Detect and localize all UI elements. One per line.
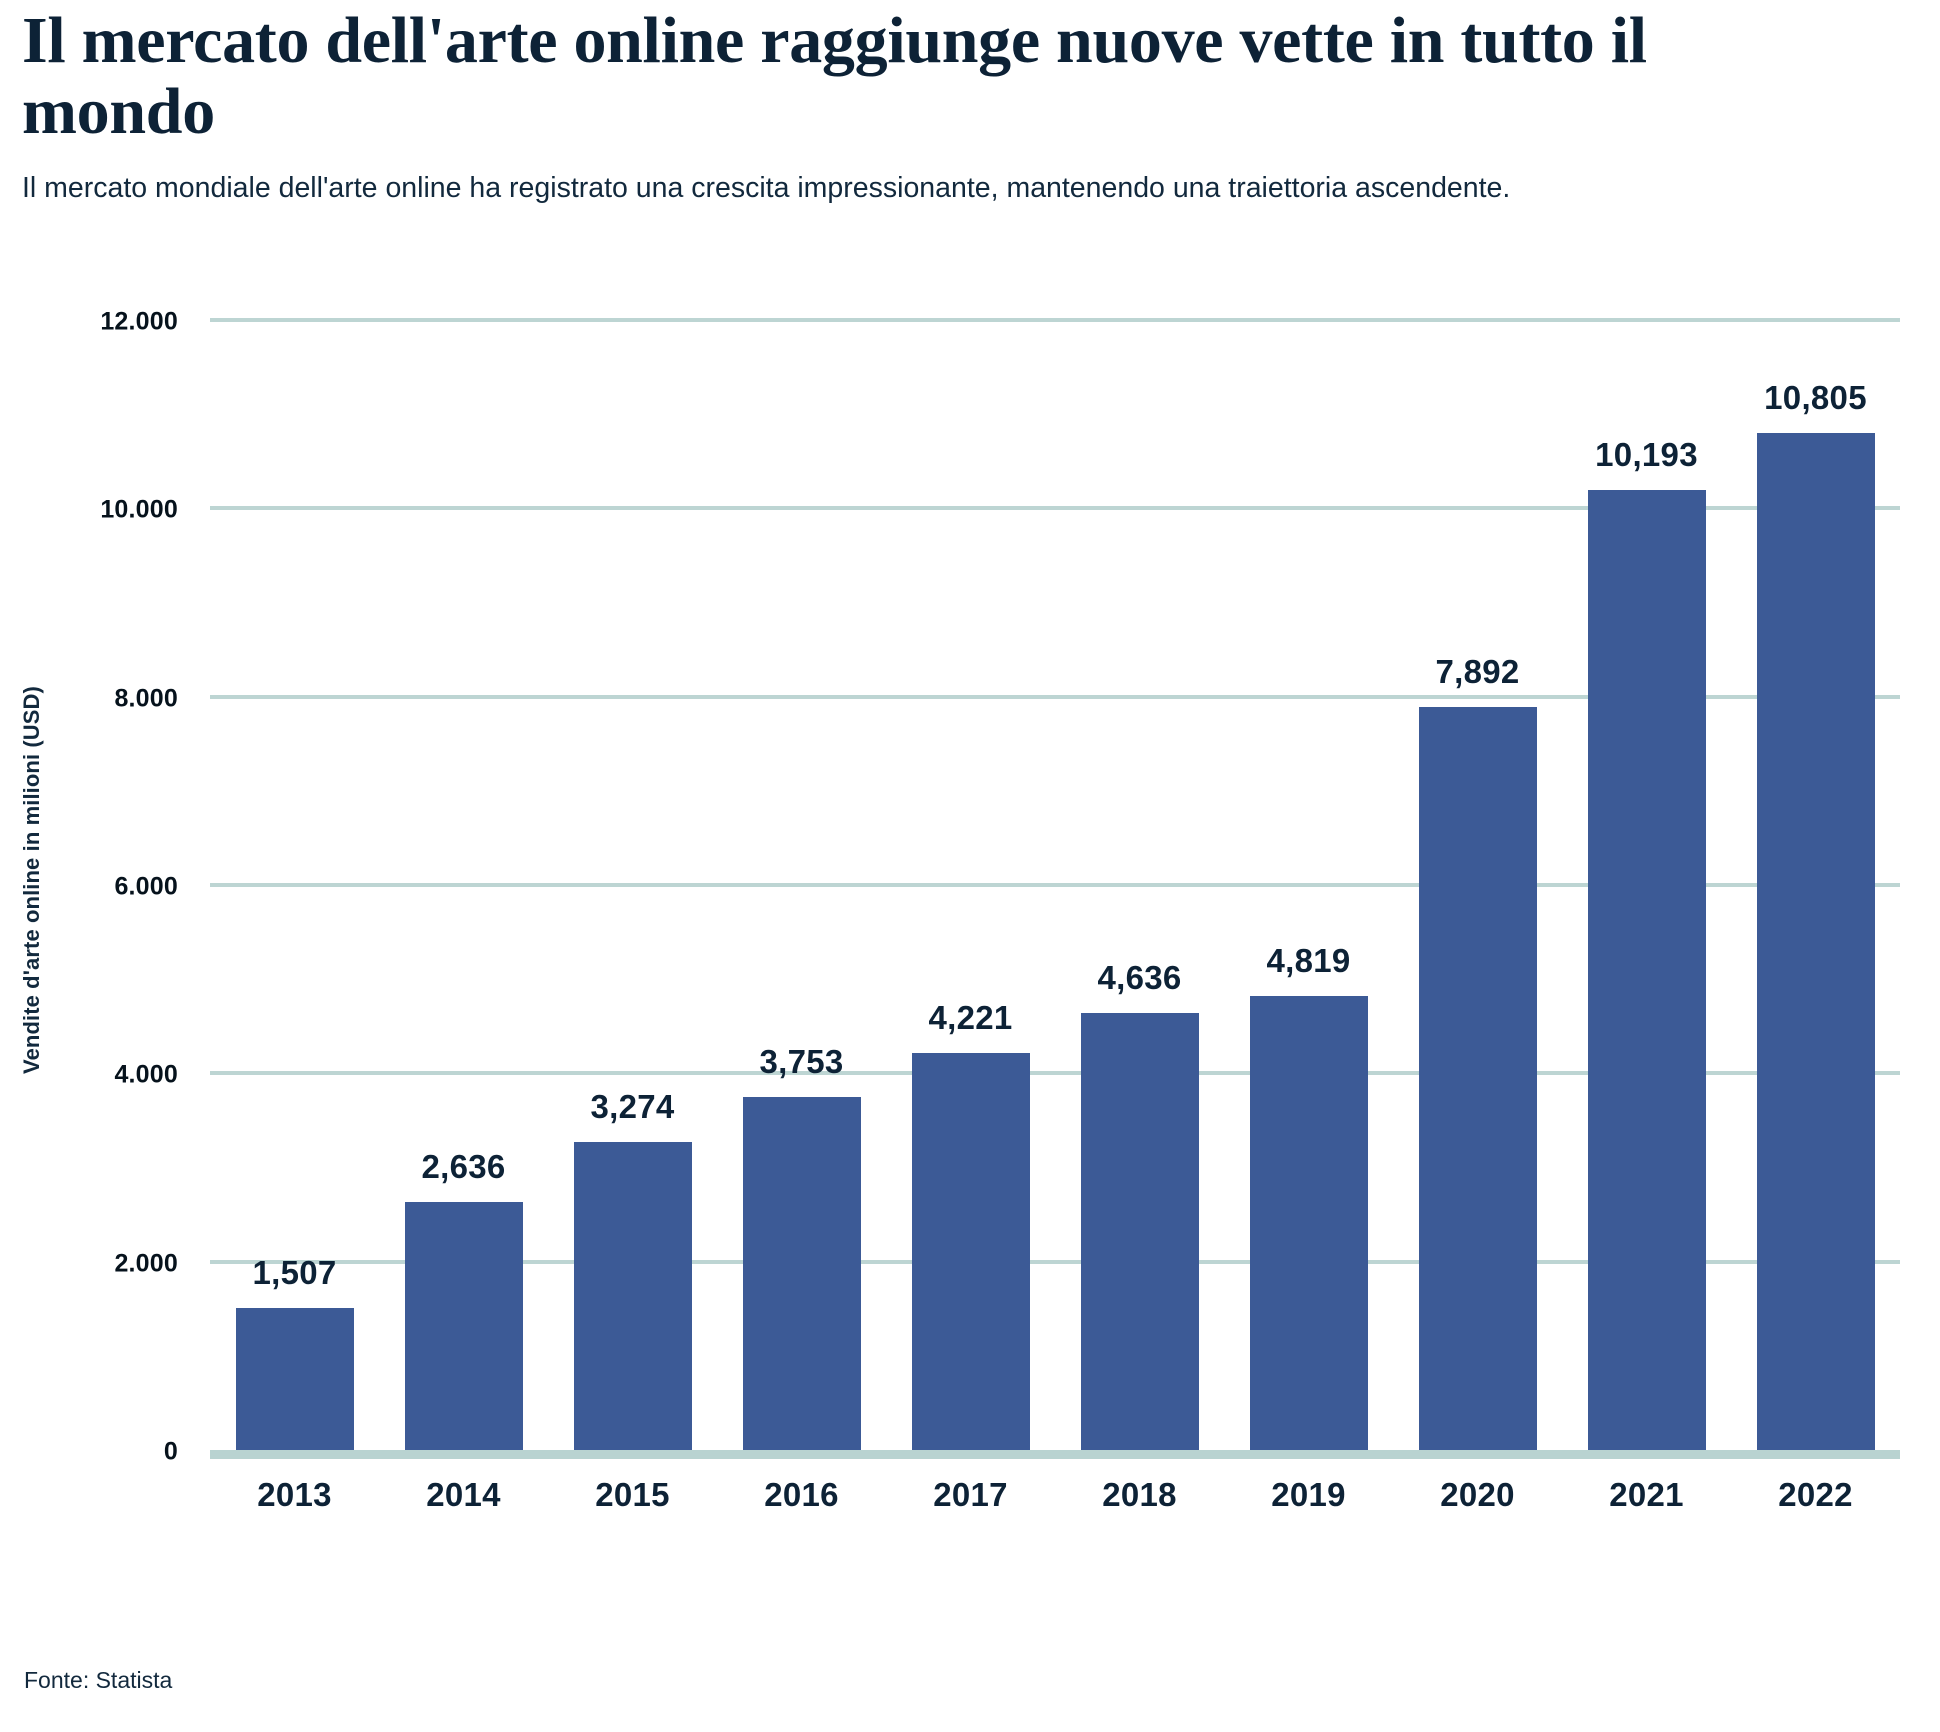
x-axis-tick-label: 2016: [764, 1476, 839, 1514]
bar-value-label: 10,193: [1595, 436, 1698, 474]
chart-page: Il mercato dell'arte online raggiunge nu…: [0, 0, 1940, 1732]
bar[interactable]: [574, 1142, 692, 1450]
y-axis-tick-label: 0: [164, 1438, 178, 1467]
bar-group[interactable]: 4,2212017: [912, 300, 1030, 1450]
bar-group[interactable]: 3,7532016: [743, 300, 861, 1450]
x-axis-tick-label: 2021: [1609, 1476, 1684, 1514]
bar-value-label: 7,892: [1435, 653, 1519, 691]
x-axis-tick-label: 2017: [933, 1476, 1008, 1514]
y-axis-tick-label: 8.000: [114, 684, 178, 713]
bar[interactable]: [912, 1053, 1030, 1450]
bar-group[interactable]: 2,6362014: [405, 300, 523, 1450]
y-axis-tick-label: 12.000: [100, 308, 178, 337]
gridline: [210, 1450, 1900, 1459]
bar-value-label: 10,805: [1764, 379, 1867, 417]
y-axis-tick-label: 4.000: [114, 1061, 178, 1090]
bar-value-label: 4,819: [1266, 942, 1350, 980]
bar-value-label: 2,636: [421, 1148, 505, 1186]
page-subtitle: Il mercato mondiale dell'arte online ha …: [22, 169, 1862, 208]
y-axis-tick-label: 10.000: [100, 496, 178, 525]
bar[interactable]: [1081, 1013, 1199, 1450]
bar-group[interactable]: 4,8192019: [1250, 300, 1368, 1450]
bar-value-label: 1,507: [252, 1254, 336, 1292]
bar-group[interactable]: 10,1932021: [1588, 300, 1706, 1450]
x-axis-tick-label: 2019: [1271, 1476, 1346, 1514]
bar[interactable]: [1588, 490, 1706, 1450]
bar-value-label: 3,274: [590, 1088, 674, 1126]
bar-group[interactable]: 10,8052022: [1757, 300, 1875, 1450]
bar-group[interactable]: 1,5072013: [236, 300, 354, 1450]
bar[interactable]: [1250, 996, 1368, 1450]
bar-group[interactable]: 3,2742015: [574, 300, 692, 1450]
x-axis-tick-label: 2014: [426, 1476, 501, 1514]
x-axis-tick-label: 2020: [1440, 1476, 1515, 1514]
bar[interactable]: [1419, 707, 1537, 1450]
x-axis-tick-label: 2013: [257, 1476, 332, 1514]
bar-group[interactable]: 4,6362018: [1081, 300, 1199, 1450]
bar-chart: Vendite d'arte online in milioni (USD) 0…: [0, 300, 1940, 1600]
bar-series: 1,50720132,63620143,27420153,75320164,22…: [210, 300, 1900, 1450]
bar[interactable]: [405, 1202, 523, 1450]
x-axis-tick-label: 2022: [1778, 1476, 1853, 1514]
bar-value-label: 4,221: [928, 999, 1012, 1037]
plot-area: 1,50720132,63620143,27420153,75320164,22…: [210, 300, 1900, 1460]
source-note: Fonte: Statista: [24, 1667, 172, 1694]
bar[interactable]: [236, 1308, 354, 1450]
y-axis-tick-labels: 02.0004.0006.0008.00010.00012.000: [0, 300, 210, 1460]
y-axis-tick-label: 6.000: [114, 873, 178, 902]
x-axis-tick-label: 2018: [1102, 1476, 1177, 1514]
bar[interactable]: [743, 1097, 861, 1450]
page-title: Il mercato dell'arte online raggiunge nu…: [22, 6, 1812, 147]
chart-header: Il mercato dell'arte online raggiunge nu…: [22, 6, 1872, 209]
y-axis-tick-label: 2.000: [114, 1249, 178, 1278]
bar-value-label: 4,636: [1097, 959, 1181, 997]
x-axis-tick-label: 2015: [595, 1476, 670, 1514]
bar[interactable]: [1757, 433, 1875, 1450]
bar-group[interactable]: 7,8922020: [1419, 300, 1537, 1450]
bar-value-label: 3,753: [759, 1043, 843, 1081]
